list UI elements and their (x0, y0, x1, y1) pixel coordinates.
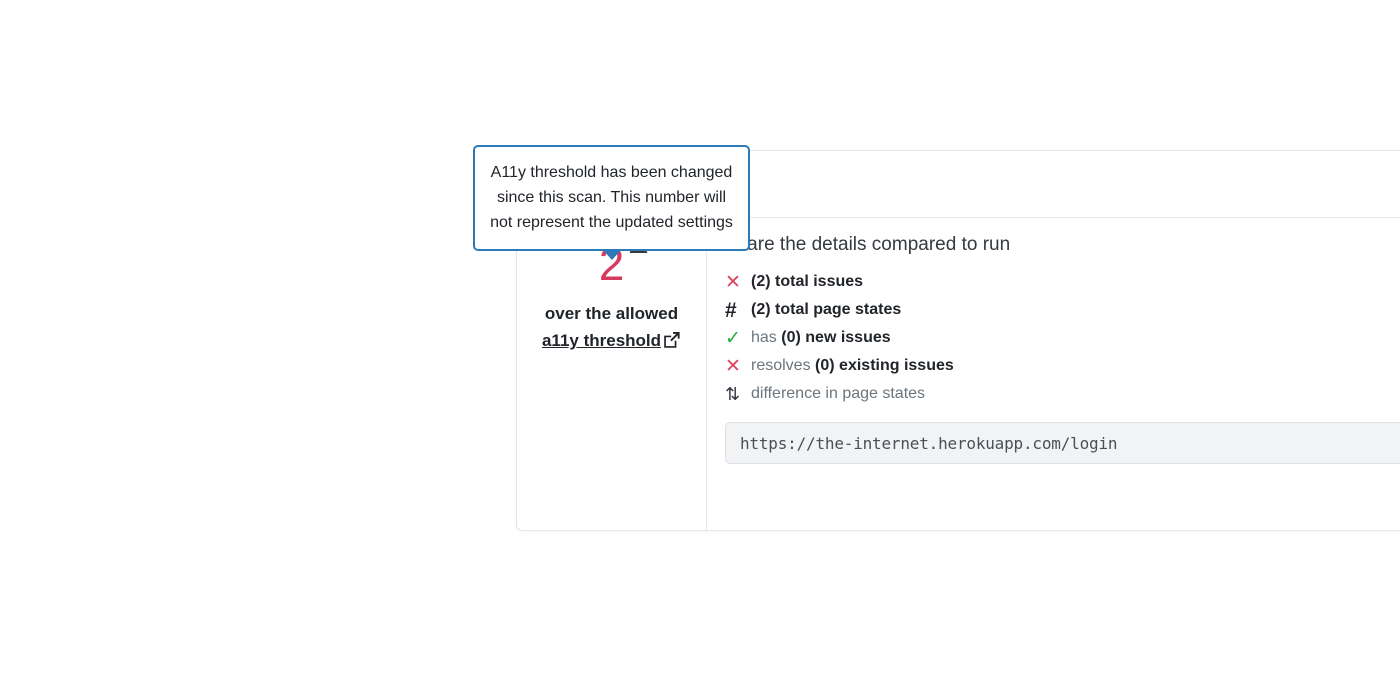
check-icon: ✓ (725, 329, 751, 348)
detail-label: new issues (805, 329, 890, 346)
detail-count: (2) (751, 273, 771, 290)
threshold-caption-prefix: over the allowed (545, 304, 678, 323)
tooltip-arrow-icon (602, 249, 622, 260)
detail-label: difference in page states (751, 385, 925, 402)
threshold-caption: over the allowed a11y threshold (527, 300, 696, 354)
screen-root: 23 AM 2 over the allowed a11y thre (0, 0, 1400, 688)
detail-row-text: difference in page states (751, 385, 925, 403)
scanned-url-field[interactable]: https://the-internet.herokuapp.com/login (725, 422, 1400, 464)
detail-label: existing issues (839, 357, 954, 374)
updown-arrows-icon: ⇅ (725, 385, 751, 403)
x-icon: ✕ (725, 273, 751, 292)
detail-row-existing-issues: ✕ resolves (0) existing issues (725, 352, 1400, 380)
detail-list: ✕ (2) total issues # (2) total page stat… (725, 268, 1400, 408)
detail-row-text: (2) total issues (751, 273, 863, 291)
detail-count: (2) (751, 301, 771, 318)
detail-row-page-state-difference: ⇅ difference in page states (725, 380, 1400, 408)
detail-row-text: resolves (0) existing issues (751, 357, 954, 375)
hash-icon: # (725, 300, 751, 321)
detail-prefix: has (751, 329, 781, 346)
tooltip-text: A11y threshold has been changed since th… (490, 164, 733, 231)
x-icon: ✕ (725, 357, 751, 376)
detail-label: total page states (775, 301, 901, 318)
detail-prefix: resolves (751, 357, 815, 374)
detail-row-total-page-states: # (2) total page states (725, 296, 1400, 324)
card-body: 2 over the allowed a11y threshold (517, 218, 1400, 531)
run-details-column: re are the details compared to run ✕ (2)… (707, 218, 1400, 531)
a11y-threshold-link[interactable]: a11y threshold (542, 331, 661, 350)
external-link-icon[interactable] (662, 330, 681, 349)
scanned-url-value: https://the-internet.herokuapp.com/login (740, 434, 1117, 453)
detail-label: total issues (775, 273, 863, 290)
detail-count: (0) (781, 329, 801, 346)
detail-row-text: has (0) new issues (751, 329, 891, 347)
detail-count: (0) (815, 357, 835, 374)
threshold-stat-column: 2 over the allowed a11y threshold (517, 218, 707, 531)
details-lead-text: re are the details compared to run (725, 232, 1400, 258)
a11y-threshold-tooltip: A11y threshold has been changed since th… (473, 145, 750, 251)
detail-row-text: (2) total page states (751, 301, 901, 319)
detail-row-new-issues: ✓ has (0) new issues (725, 324, 1400, 352)
detail-row-total-issues: ✕ (2) total issues (725, 268, 1400, 296)
